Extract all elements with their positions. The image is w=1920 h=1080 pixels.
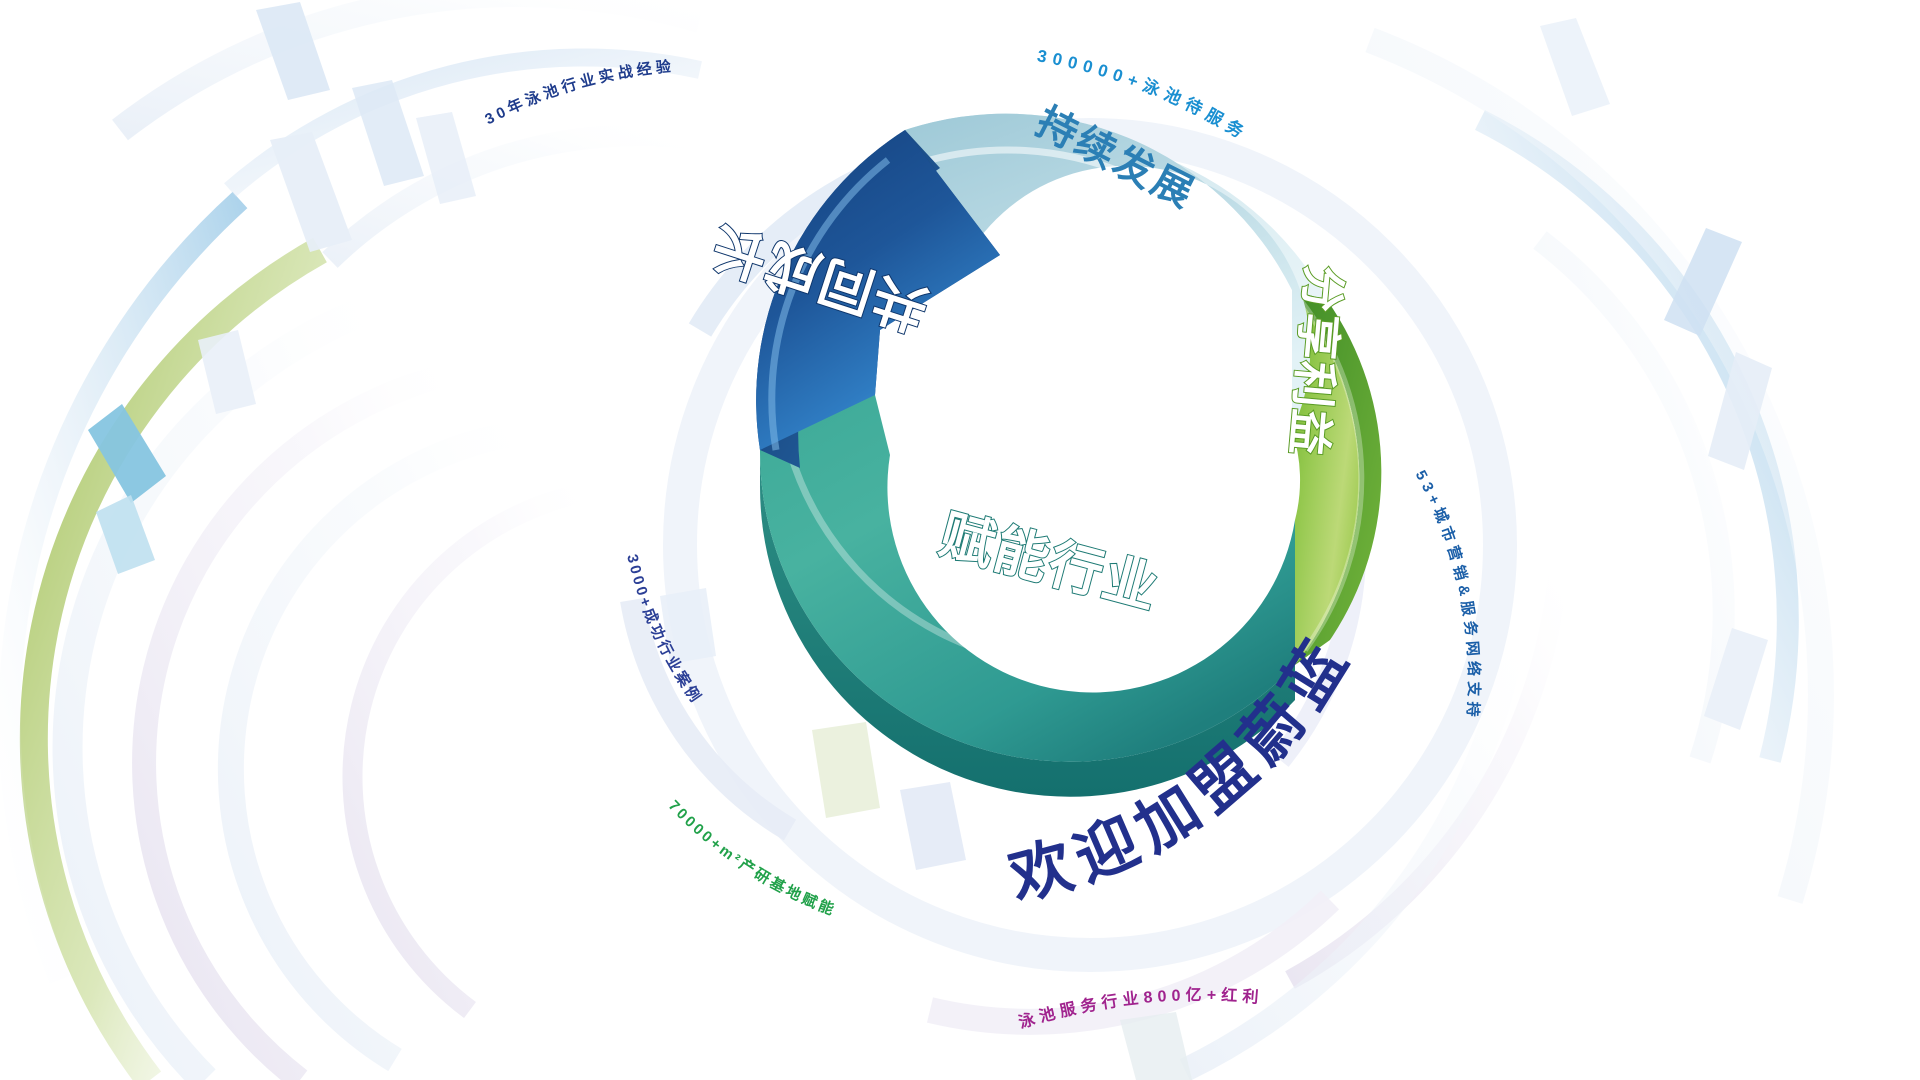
growth-cycle-ring	[756, 114, 1381, 797]
decor-arc-group-inner	[632, 135, 1500, 1022]
poster-canvas: 共同成长 持续发展 分享利益 赋能行业 30年泳池行业实战经验 300000+泳…	[0, 0, 1920, 1080]
background-decoration	[0, 0, 1920, 1080]
